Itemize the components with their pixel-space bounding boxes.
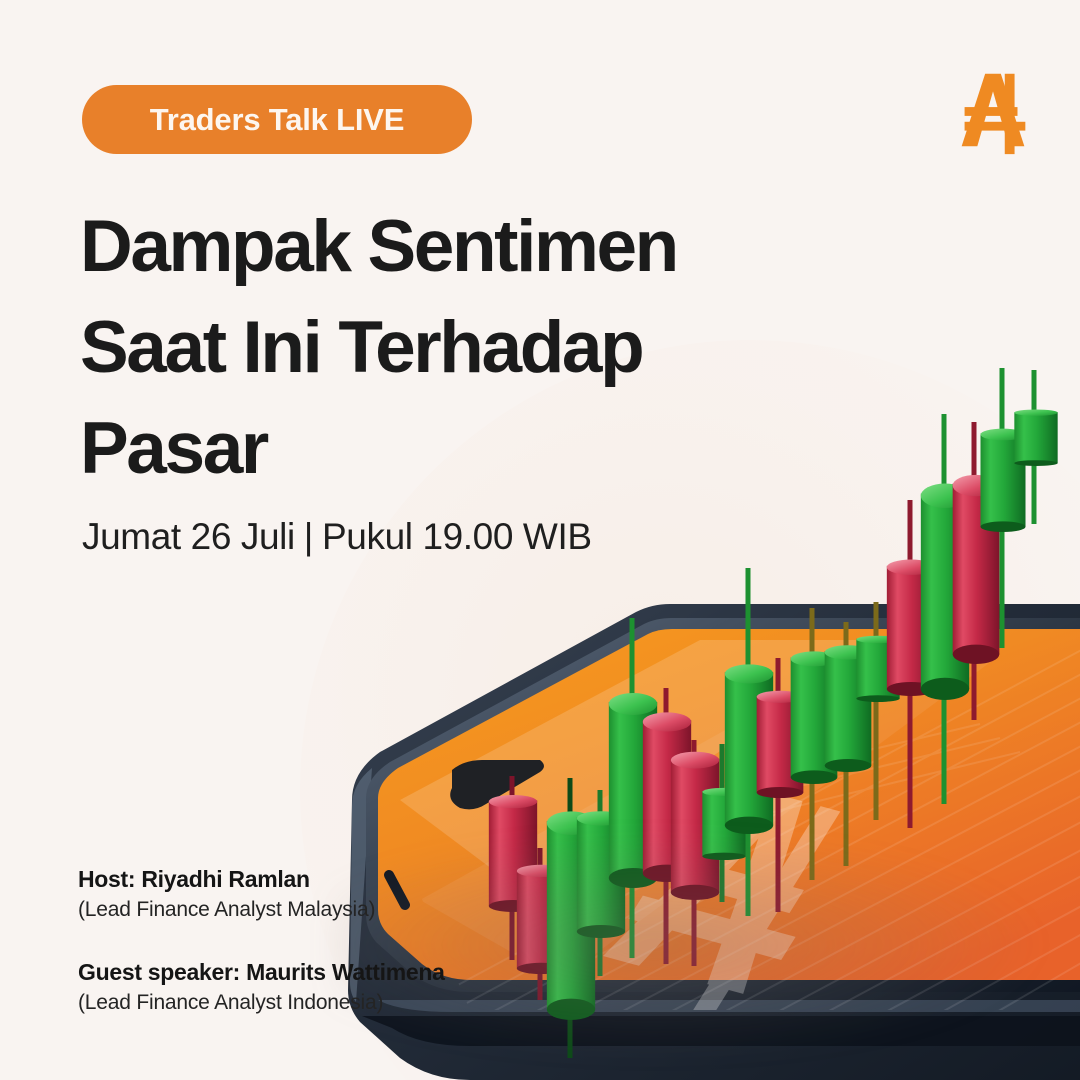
schedule-time: Pukul 19.00 WIB: [322, 516, 592, 557]
schedule-line: Jumat 26 Juli|Pukul 19.00 WIB: [82, 516, 592, 558]
host-block: Host: Riyadhi Ramlan (Lead Finance Analy…: [78, 866, 445, 922]
host-role: (Lead Finance Analyst Malaysia): [78, 898, 445, 922]
headline-line-3: Pasar: [80, 398, 800, 499]
schedule-date: Jumat 26 Juli: [82, 516, 295, 557]
headline-line-1: Dampak Sentimen: [80, 196, 800, 297]
page-title: Dampak Sentimen Saat Ini Terhadap Pasar: [80, 196, 800, 499]
live-badge: Traders Talk LIVE: [82, 85, 472, 154]
headline-line-2: Saat Ini Terhadap: [80, 297, 800, 398]
schedule-separator: |: [304, 516, 313, 557]
poster-canvas: Traders Talk LIVE Dampak Sentimen Saat I…: [0, 0, 1080, 1080]
speakers-block: Host: Riyadhi Ramlan (Lead Finance Analy…: [78, 866, 445, 1015]
guest-name: Guest speaker: Maurits Wattimena: [78, 959, 445, 986]
guest-role: (Lead Finance Analyst Indonesia): [78, 991, 445, 1015]
host-name: Host: Riyadhi Ramlan: [78, 866, 445, 893]
guest-block: Guest speaker: Maurits Wattimena (Lead F…: [78, 959, 445, 1015]
live-badge-label: Traders Talk LIVE: [150, 102, 404, 138]
letter-a-currency-logo-icon: [944, 62, 1042, 160]
